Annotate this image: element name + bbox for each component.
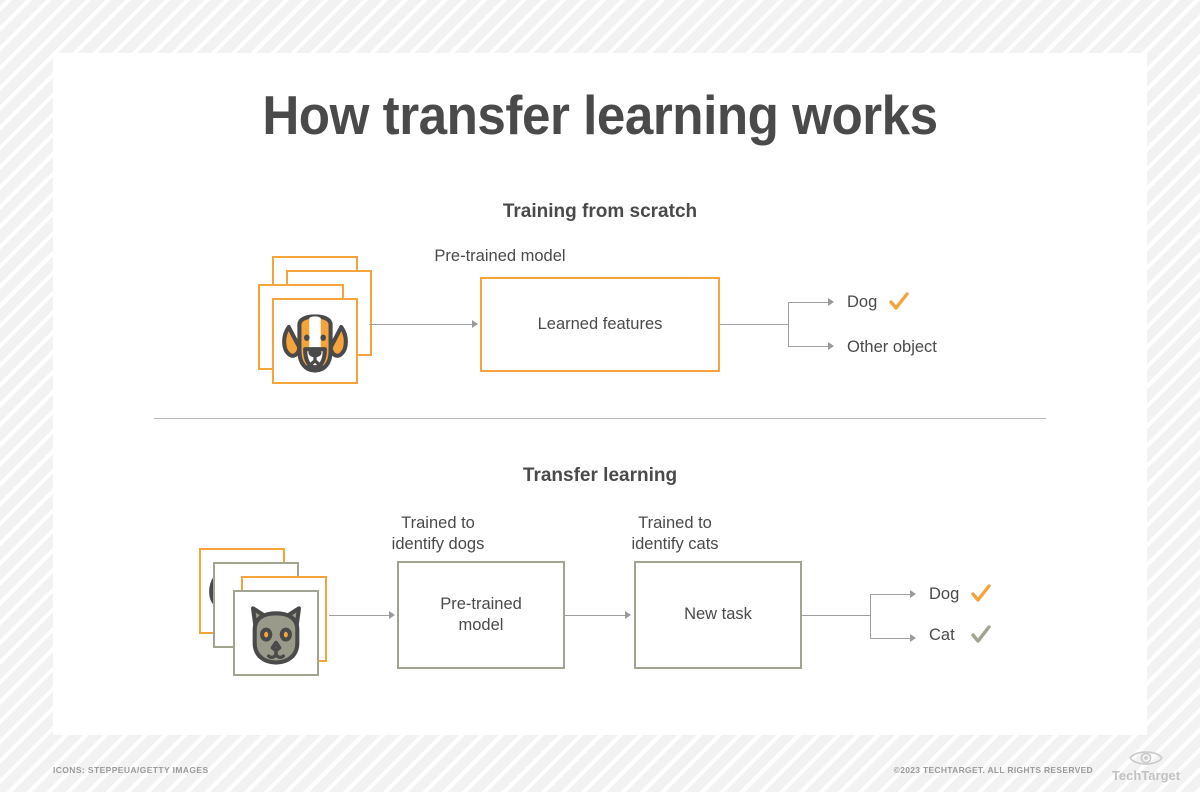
check-icon-dog-transfer: [970, 583, 992, 605]
section-divider: [154, 418, 1046, 419]
pre-trained-model-label: Pre-trained model: [380, 246, 620, 267]
trained-to-identify-cats-label: Trained to identify cats: [580, 513, 770, 555]
connector-pretrained-to-newtask: [565, 615, 627, 616]
trained-to-identify-dogs-label: Trained to identify dogs: [343, 513, 533, 555]
section-heading-training-from-scratch: Training from scratch: [53, 201, 1147, 223]
arrowhead-to-features: [472, 320, 478, 328]
check-icon-dog-scratch: [888, 291, 910, 313]
output-label-other-object: Other object: [847, 338, 937, 357]
connector-stack-to-pretrained: [329, 615, 391, 616]
stack-card-cat: [233, 590, 319, 676]
cat-face-icon: [235, 592, 317, 674]
pre-trained-model-box: Pre-trained model: [397, 561, 565, 669]
check-icon-cat-transfer: [970, 624, 992, 646]
connector-stack-to-features: [369, 324, 474, 325]
branch-bottom-arm-bottom: [870, 638, 912, 639]
output-label-dog-transfer: Dog: [929, 585, 959, 604]
output-label-dog-scratch: Dog: [847, 293, 877, 312]
branch-vertical-top: [788, 302, 789, 346]
branch-top-arm-bottom: [870, 594, 912, 595]
arrowhead-dog-top: [828, 298, 834, 306]
techtarget-logo-text: TechTarget: [1102, 768, 1190, 783]
arrowhead-dog-transfer: [910, 590, 916, 598]
page-title: How transfer learning works: [91, 83, 1108, 147]
section-heading-transfer-learning: Transfer learning: [53, 465, 1147, 487]
arrowhead-to-pretrained: [389, 611, 395, 619]
content-canvas: How transfer learning works Training fro…: [53, 53, 1147, 735]
image-credit: ICONS: STEPPEUA/GETTY IMAGES: [53, 765, 209, 775]
branch-bottom-arm: [788, 346, 830, 347]
arrowhead-cat-transfer: [910, 634, 916, 642]
eye-icon: [1102, 747, 1190, 767]
techtarget-logo: TechTarget: [1102, 747, 1190, 787]
output-label-cat-transfer: Cat: [929, 626, 955, 645]
copyright-notice: ©2023 TECHTARGET. ALL RIGHTS RESERVED: [894, 765, 1093, 775]
stack-card-front: [272, 298, 358, 384]
branch-vertical-bottom: [870, 594, 871, 638]
connector-newtask-to-branch: [802, 615, 870, 616]
arrowhead-to-newtask: [625, 611, 631, 619]
connector-features-to-branch: [720, 324, 788, 325]
new-task-box: New task: [634, 561, 802, 669]
arrowhead-other-object: [828, 342, 834, 350]
dog-face-icon: [274, 300, 356, 382]
branch-top-arm: [788, 302, 830, 303]
learned-features-box: Learned features: [480, 277, 720, 372]
